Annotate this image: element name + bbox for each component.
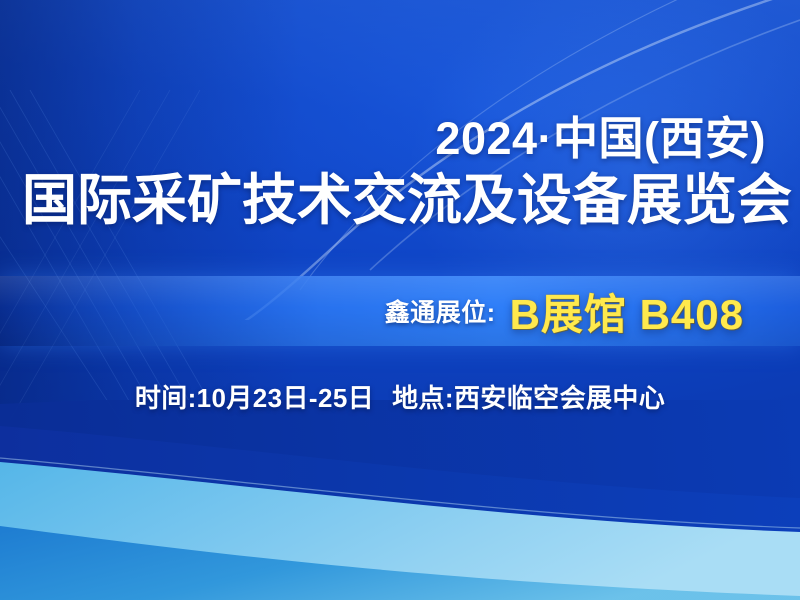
event-info-line: 时间:10月23日-25日地点:西安临空会展中心: [0, 378, 800, 415]
headline-block: 2024·中国(西安) 国际采矿技术交流及设备展览会: [0, 112, 800, 232]
event-venue: 地点:西安临空会展中心: [392, 383, 665, 413]
booth-info-row: 鑫通展位: B展馆 B408: [0, 276, 800, 346]
event-date: 时间:10月23日-25日: [135, 383, 374, 413]
page-title-line1: 2024·中国(西安): [22, 112, 766, 166]
exhibition-poster: 2024·中国(西安) 国际采矿技术交流及设备展览会 鑫通展位: B展馆 B40…: [0, 0, 800, 600]
booth-number: B展馆 B408: [510, 281, 744, 342]
booth-label: 鑫通展位:: [385, 293, 496, 329]
page-title-line2: 国际采矿技术交流及设备展览会: [22, 168, 766, 232]
